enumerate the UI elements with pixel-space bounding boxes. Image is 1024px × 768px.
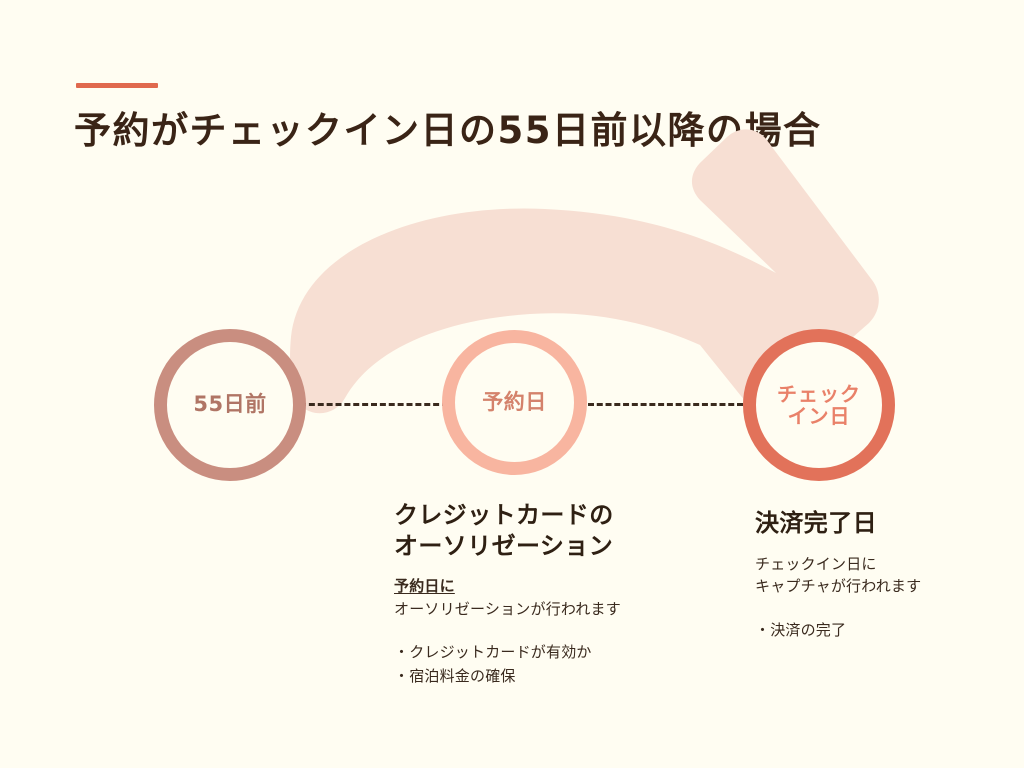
block-note-body: キャプチャが行われます xyxy=(755,575,1005,598)
list-item: ・宿泊料金の確保 xyxy=(394,664,694,688)
slide-canvas: 予約がチェックイン日の55日前以降の場合 55日前 予約日 チェック イン日 ク… xyxy=(0,0,1024,768)
timeline-node-55-days-before[interactable]: 55日前 xyxy=(154,329,306,481)
list-item: ・クレジットカードが有効か xyxy=(394,640,694,664)
block-note: チェックイン日に キャプチャが行われます xyxy=(755,553,1005,598)
page-title: 予約がチェックイン日の55日前以降の場合 xyxy=(74,100,822,154)
block-heading: 決済完了日 xyxy=(755,508,1005,539)
title-accent-bar xyxy=(76,83,158,88)
block-list: ・決済の完了 xyxy=(755,618,1005,642)
block-note: 予約日に オーソリゼーションが行われます xyxy=(394,575,694,620)
block-note-emphasis: チェックイン日に xyxy=(755,553,1005,576)
timeline-node-label: チェック イン日 xyxy=(777,383,861,428)
timeline-node-reservation-date[interactable]: 予約日 xyxy=(442,330,587,475)
timeline-node-label: 予約日 xyxy=(482,391,547,415)
connector-dash-right xyxy=(588,403,743,406)
timeline-node-label: 55日前 xyxy=(193,393,266,417)
description-block-settlement: 決済完了日 チェックイン日に キャプチャが行われます ・決済の完了 xyxy=(755,508,1005,642)
timeline-node-checkin-date[interactable]: チェック イン日 xyxy=(743,329,895,481)
block-note-body: オーソリゼーションが行われます xyxy=(394,598,694,621)
connector-dash-left xyxy=(300,403,448,406)
list-item: ・決済の完了 xyxy=(755,618,1005,642)
block-note-emphasis: 予約日に xyxy=(394,575,694,598)
block-list: ・クレジットカードが有効か ・宿泊料金の確保 xyxy=(394,640,694,688)
description-block-authorization: クレジットカードの オーソリゼーション 予約日に オーソリゼーションが行われます… xyxy=(394,500,694,688)
block-heading: クレジットカードの オーソリゼーション xyxy=(394,500,694,561)
